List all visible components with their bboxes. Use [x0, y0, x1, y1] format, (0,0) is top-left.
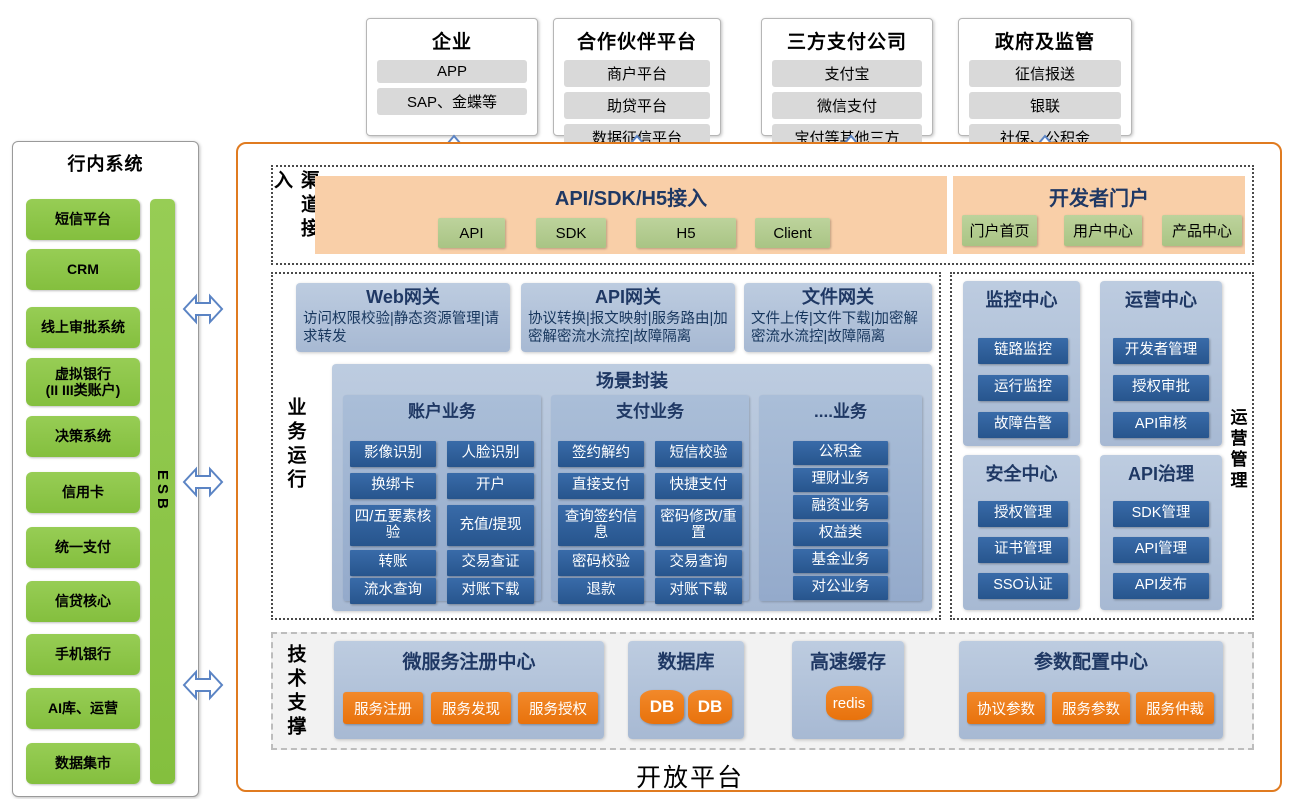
tech-card-title: 高速缓存	[810, 641, 886, 679]
external-item: 商户平台	[564, 60, 710, 87]
scene-item[interactable]: 退款	[558, 578, 644, 604]
tech-card-microservice-registry: 微服务注册中心	[334, 641, 604, 739]
gateway-card-file: 文件网关 文件上传|文件下载|加密解密流水流控|故障隔离	[744, 283, 932, 352]
channel-item-sdk[interactable]: SDK	[536, 218, 606, 248]
scene-item[interactable]: 交易查询	[655, 550, 742, 576]
tech-card-title: 数据库	[657, 641, 714, 679]
gateway-desc: 访问权限校验|静态资源管理|请求转发	[296, 309, 510, 350]
tech-item[interactable]: 服务授权	[518, 692, 598, 724]
developer-portal-title: 开发者门户	[953, 176, 1245, 211]
scene-encapsulation-title: 场景封装	[332, 364, 932, 393]
bank-item-credit-card[interactable]: 信用卡	[26, 472, 140, 513]
tech-card-title: 微服务注册中心	[402, 641, 535, 679]
arrow-bidirectional-business	[182, 461, 224, 503]
scene-item[interactable]: 转账	[350, 550, 436, 576]
scene-item[interactable]: 交易查证	[447, 550, 534, 576]
platform-title: 开放平台	[560, 758, 820, 794]
external-item: APP	[377, 60, 527, 83]
tech-card-param-config: 参数配置中心	[959, 641, 1223, 739]
arrow-bidirectional-gateway	[182, 288, 224, 330]
scene-item[interactable]: 对账下载	[447, 578, 534, 604]
bank-item-crm[interactable]: CRM	[26, 249, 140, 290]
scene-item[interactable]: 开户	[447, 473, 534, 499]
bank-item-data-mart[interactable]: 数据集市	[26, 743, 140, 784]
external-item: 征信报送	[969, 60, 1121, 87]
scene-item[interactable]: 换绑卡	[350, 473, 436, 499]
gateway-title: 文件网关	[802, 283, 874, 309]
tech-item[interactable]: 协议参数	[967, 692, 1045, 724]
tech-item[interactable]: 服务参数	[1052, 692, 1130, 724]
channel-item-client[interactable]: Client	[755, 218, 830, 248]
scene-item[interactable]: 查询签约信息	[558, 505, 644, 546]
ops-item[interactable]: 运行监控	[978, 375, 1068, 401]
gateway-title: API网关	[595, 283, 661, 309]
ops-card-title: 安全中心	[986, 455, 1058, 490]
external-box-partner: 合作伙伴平台 商户平台 助贷平台 数据征信平台	[553, 18, 721, 136]
portal-item-home[interactable]: 门户首页	[962, 215, 1037, 246]
bank-item-ai-ops[interactable]: AI库、运营	[26, 688, 140, 729]
api-sdk-h5-title: API/SDK/H5接入	[315, 176, 947, 211]
redis-node[interactable]: redis	[826, 686, 872, 720]
gateway-card-api: API网关 协议转换|报文映射|服务路由|加密解密流水流控|故障隔离	[521, 283, 735, 352]
scene-item[interactable]: 短信校验	[655, 441, 742, 467]
external-title: 企业	[432, 27, 472, 54]
scene-item[interactable]: 充值/提现	[447, 505, 534, 546]
scene-item[interactable]: 直接支付	[558, 473, 644, 499]
scene-item[interactable]: 影像识别	[350, 441, 436, 467]
portal-item-product-center[interactable]: 产品中心	[1162, 215, 1242, 246]
ops-item[interactable]: 授权管理	[978, 501, 1068, 527]
bank-item-online-approval[interactable]: 线上审批系统	[26, 307, 140, 348]
bank-item-unified-payment[interactable]: 统一支付	[26, 527, 140, 568]
external-item: 银联	[969, 92, 1121, 119]
database-cylinder[interactable]: DB	[688, 690, 732, 724]
bank-item-mobile-bank[interactable]: 手机银行	[26, 634, 140, 675]
scene-item[interactable]: 对公业务	[793, 576, 888, 600]
external-title: 政府及监管	[995, 27, 1095, 54]
ops-item[interactable]: API发布	[1113, 573, 1209, 599]
bank-systems-title: 行内系统	[13, 142, 198, 176]
external-box-thirdparty-payment: 三方支付公司 支付宝 微信支付 宝付等其他三方	[761, 18, 933, 136]
external-title: 合作伙伴平台	[577, 27, 697, 54]
ops-item[interactable]: API审核	[1113, 412, 1209, 438]
tech-item[interactable]: 服务发现	[431, 692, 511, 724]
scene-item[interactable]: 公积金	[793, 441, 888, 465]
external-title: 三方支付公司	[787, 27, 907, 54]
operations-management-label: 运营管理	[1224, 395, 1250, 505]
scene-item[interactable]: 密码校验	[558, 550, 644, 576]
ops-item[interactable]: SSO认证	[978, 573, 1068, 599]
gateway-card-web: Web网关 访问权限校验|静态资源管理|请求转发	[296, 283, 510, 352]
scene-item[interactable]: 融资业务	[793, 495, 888, 519]
ops-item[interactable]: 故障告警	[978, 412, 1068, 438]
scene-item[interactable]: 对账下载	[655, 578, 742, 604]
ops-item[interactable]: 授权审批	[1113, 375, 1209, 401]
scene-item[interactable]: 密码修改/重置	[655, 505, 742, 546]
ops-item[interactable]: API管理	[1113, 537, 1209, 563]
scene-group-title: 账户业务	[408, 395, 476, 425]
bank-item-credit-core[interactable]: 信贷核心	[26, 581, 140, 622]
ops-card-title: API治理	[1128, 455, 1194, 490]
channel-item-h5[interactable]: H5	[636, 218, 736, 248]
esb-bus: ESB	[150, 199, 175, 784]
scene-item[interactable]: 快捷支付	[655, 473, 742, 499]
external-item: 助贷平台	[564, 92, 710, 119]
ops-item[interactable]: SDK管理	[1113, 501, 1209, 527]
portal-item-user-center[interactable]: 用户中心	[1064, 215, 1142, 246]
ops-item[interactable]: 证书管理	[978, 537, 1068, 563]
arrow-bidirectional-tech	[182, 664, 224, 706]
channel-access-label: 渠道接入	[281, 170, 309, 262]
gateway-desc: 文件上传|文件下载|加密解密流水流控|故障隔离	[744, 309, 932, 350]
bank-item-sms[interactable]: 短信平台	[26, 199, 140, 240]
database-cylinder[interactable]: DB	[640, 690, 684, 724]
tech-card-title: 参数配置中心	[1034, 641, 1148, 679]
external-item: 支付宝	[772, 60, 922, 87]
bank-item-virtual-bank[interactable]: 虚拟银行 (II III类账户)	[26, 358, 140, 406]
external-box-enterprise: 企业 APP SAP、金蝶等	[366, 18, 538, 136]
scene-item[interactable]: 权益类	[793, 522, 888, 546]
tech-card-database: 数据库	[628, 641, 744, 739]
api-sdk-h5-access-card: API/SDK/H5接入	[315, 176, 947, 254]
external-item: SAP、金蝶等	[377, 88, 527, 115]
scene-group-title: ....业务	[814, 395, 867, 425]
ops-item[interactable]: 开发者管理	[1113, 338, 1209, 364]
tech-item[interactable]: 服务仲裁	[1136, 692, 1214, 724]
channel-item-api[interactable]: API	[438, 218, 505, 248]
esb-label: ESB	[154, 470, 171, 513]
scene-item[interactable]: 理财业务	[793, 468, 888, 492]
scene-item[interactable]: 签约解约	[558, 441, 644, 467]
scene-item[interactable]: 基金业务	[793, 549, 888, 573]
ops-card-title: 监控中心	[986, 281, 1058, 316]
tech-support-label: 技术支撑	[281, 638, 309, 746]
scene-item[interactable]: 流水查询	[350, 578, 436, 604]
external-item: 微信支付	[772, 92, 922, 119]
scene-group-title: 支付业务	[616, 395, 684, 425]
ops-item[interactable]: 链路监控	[978, 338, 1068, 364]
scene-item[interactable]: 人脸识别	[447, 441, 534, 467]
external-box-government: 政府及监管 征信报送 银联 社保、公积金	[958, 18, 1132, 136]
scene-item[interactable]: 四/五要素核验	[350, 505, 436, 546]
bank-item-decision[interactable]: 决策系统	[26, 416, 140, 457]
tech-item[interactable]: 服务注册	[343, 692, 423, 724]
ops-card-title: 运营中心	[1125, 281, 1197, 316]
gateway-title: Web网关	[366, 283, 440, 309]
gateway-desc: 协议转换|报文映射|服务路由|加密解密流水流控|故障隔离	[521, 309, 735, 350]
architecture-diagram: 企业 APP SAP、金蝶等 合作伙伴平台 商户平台 助贷平台 数据征信平台 三…	[0, 0, 1299, 799]
business-running-label: 业务运行	[281, 380, 309, 510]
